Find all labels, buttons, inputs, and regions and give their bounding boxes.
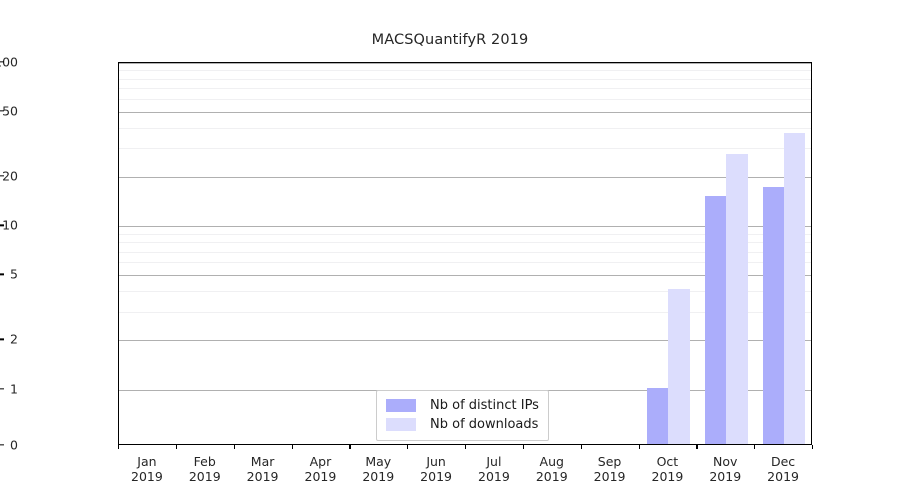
x-tick-month: Feb bbox=[189, 454, 221, 469]
bar-dec-downloads bbox=[784, 133, 805, 444]
y-tick-mark bbox=[0, 339, 4, 340]
x-tick-label-dec: Dec2019 bbox=[767, 454, 799, 484]
x-tick-mark bbox=[292, 445, 293, 449]
x-tick-mark bbox=[754, 445, 755, 449]
x-tick-label-jul: Jul2019 bbox=[478, 454, 510, 484]
x-tick-month: May bbox=[362, 454, 394, 469]
x-tick-mark bbox=[234, 445, 235, 449]
x-tick-label-mar: Mar2019 bbox=[247, 454, 279, 484]
x-tick-year: 2019 bbox=[536, 469, 568, 484]
x-tick-year: 2019 bbox=[362, 469, 394, 484]
x-tick-month: Jun bbox=[420, 454, 452, 469]
x-tick-mark bbox=[176, 445, 177, 449]
x-tick-year: 2019 bbox=[478, 469, 510, 484]
bars-layer bbox=[119, 63, 811, 444]
y-tick-mark bbox=[0, 61, 4, 62]
x-tick-year: 2019 bbox=[594, 469, 626, 484]
legend-item-downloads[interactable]: Nb of downloads bbox=[386, 415, 539, 434]
y-tick-label: 10 bbox=[2, 218, 18, 233]
x-tick-year: 2019 bbox=[709, 469, 741, 484]
x-axis: Jan2019Feb2019Mar2019Apr2019May2019Jun20… bbox=[118, 445, 812, 500]
x-tick-label-oct: Oct2019 bbox=[652, 454, 684, 484]
x-tick-label-jan: Jan2019 bbox=[131, 454, 163, 484]
x-tick-label-apr: Apr2019 bbox=[305, 454, 337, 484]
legend-label-distinct-ips: Nb of distinct IPs bbox=[430, 398, 539, 413]
x-tick-year: 2019 bbox=[189, 469, 221, 484]
x-tick-year: 2019 bbox=[767, 469, 799, 484]
bar-oct-distinct-ips bbox=[647, 388, 668, 444]
y-tick-mark bbox=[0, 225, 4, 226]
x-tick-mark bbox=[639, 445, 640, 449]
y-tick-label: 0 bbox=[10, 438, 18, 453]
chart-title: MACSQuantifyR 2019 bbox=[0, 32, 900, 48]
x-tick-month: Aug bbox=[536, 454, 568, 469]
y-tick-mark bbox=[0, 175, 4, 176]
chart-legend[interactable]: Nb of distinct IPs Nb of downloads bbox=[376, 390, 549, 441]
x-tick-month: Mar bbox=[247, 454, 279, 469]
x-tick-label-may: May2019 bbox=[362, 454, 394, 484]
plot-area bbox=[118, 62, 812, 445]
chart-figure: MACSQuantifyR 2019 0125102050100 Jan2019… bbox=[0, 0, 900, 500]
y-tick-label: 50 bbox=[2, 104, 18, 119]
y-tick-mark bbox=[0, 274, 4, 275]
x-tick-month: Jan bbox=[131, 454, 163, 469]
bar-nov-downloads bbox=[726, 154, 747, 444]
bar-nov-distinct-ips bbox=[705, 196, 726, 444]
x-tick-month: Oct bbox=[652, 454, 684, 469]
y-tick-mark bbox=[0, 110, 4, 111]
x-tick-mark bbox=[696, 445, 697, 449]
x-tick-month: Apr bbox=[305, 454, 337, 469]
x-tick-mark bbox=[581, 445, 582, 449]
x-tick-year: 2019 bbox=[420, 469, 452, 484]
x-tick-label-sep: Sep2019 bbox=[594, 454, 626, 484]
x-tick-month: Jul bbox=[478, 454, 510, 469]
x-tick-mark bbox=[465, 445, 466, 449]
x-tick-mark bbox=[812, 445, 813, 449]
x-tick-label-nov: Nov2019 bbox=[709, 454, 741, 484]
x-tick-mark bbox=[523, 445, 524, 449]
y-tick-mark bbox=[0, 444, 4, 445]
x-tick-year: 2019 bbox=[247, 469, 279, 484]
bar-dec-distinct-ips bbox=[763, 187, 784, 444]
legend-item-distinct-ips[interactable]: Nb of distinct IPs bbox=[386, 396, 539, 415]
x-tick-label-aug: Aug2019 bbox=[536, 454, 568, 484]
y-axis: 0125102050100 bbox=[0, 0, 118, 500]
y-tick-label: 1 bbox=[10, 381, 18, 396]
y-tick-label: 2 bbox=[10, 332, 18, 347]
x-tick-month: Dec bbox=[767, 454, 799, 469]
legend-label-downloads: Nb of downloads bbox=[430, 417, 538, 432]
x-tick-year: 2019 bbox=[652, 469, 684, 484]
x-tick-month: Sep bbox=[594, 454, 626, 469]
x-tick-month: Nov bbox=[709, 454, 741, 469]
x-tick-year: 2019 bbox=[305, 469, 337, 484]
legend-swatch-icon-distinct-ips bbox=[386, 399, 416, 412]
x-tick-year: 2019 bbox=[131, 469, 163, 484]
y-tick-label: 5 bbox=[10, 267, 18, 282]
x-tick-label-jun: Jun2019 bbox=[420, 454, 452, 484]
x-tick-mark bbox=[118, 445, 119, 449]
bar-oct-downloads bbox=[668, 289, 689, 444]
x-tick-mark bbox=[407, 445, 408, 449]
legend-swatch-icon-downloads bbox=[386, 418, 416, 431]
y-tick-label: 20 bbox=[2, 169, 18, 184]
x-tick-label-feb: Feb2019 bbox=[189, 454, 221, 484]
x-tick-mark bbox=[349, 445, 350, 449]
y-tick-mark bbox=[0, 388, 4, 389]
